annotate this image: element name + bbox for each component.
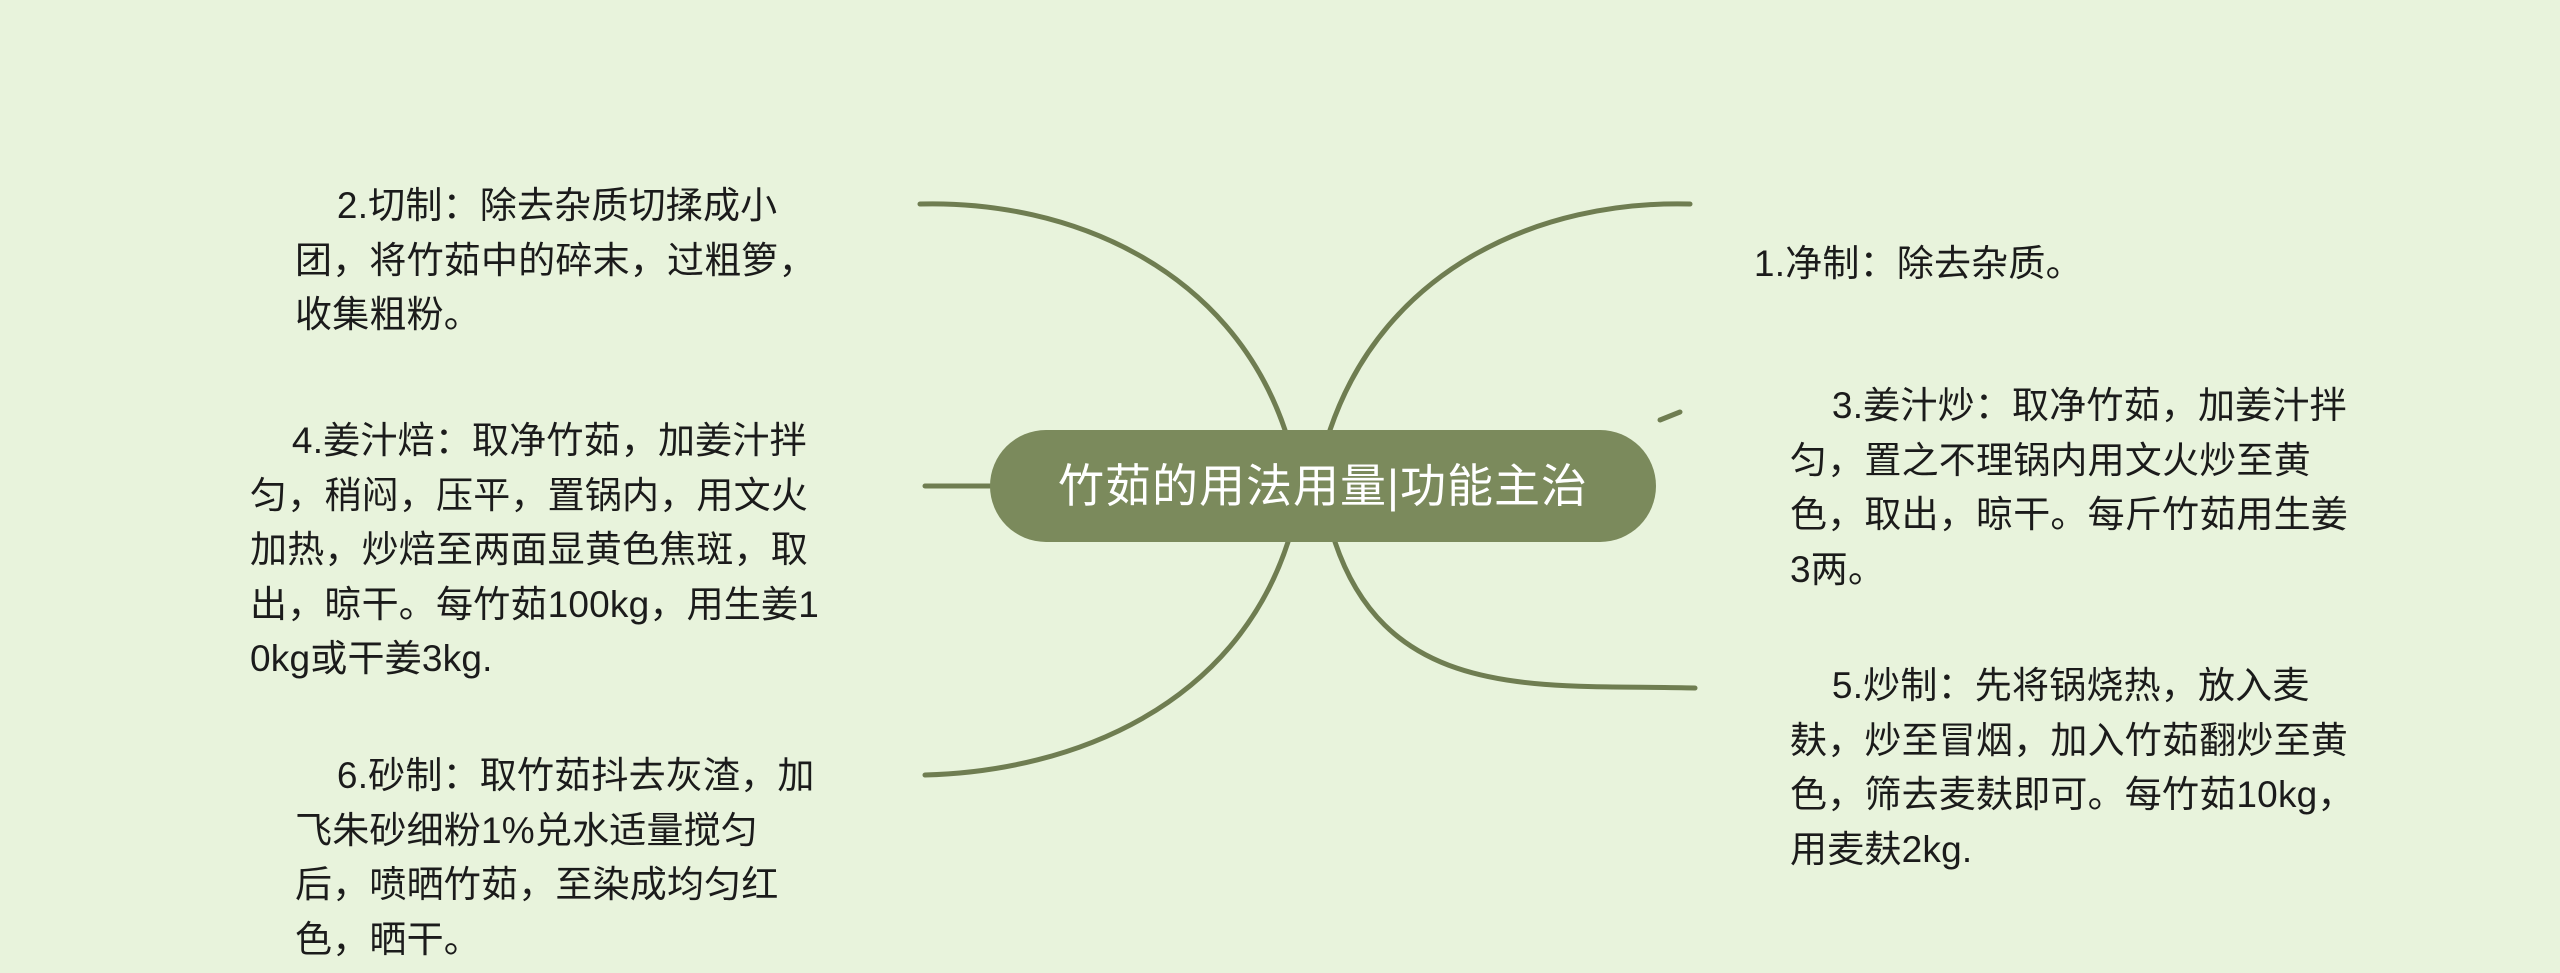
- branch-node-4[interactable]: 4.姜汁焙：取净竹茹，加姜汁拌匀，稍闷，压平，置锅内，用文火加热，炒焙至两面显黄…: [250, 360, 830, 741]
- connector-branch-2: [920, 204, 1285, 430]
- connector-branch-5: [1335, 542, 1695, 688]
- branch-node-2[interactable]: 2.切制：除去杂质切揉成小团，将竹茹中的碎末，过粗箩，收集粗粉。: [295, 125, 830, 397]
- branch-label-1: 1.净制：除去杂质。: [1754, 243, 2083, 284]
- branch-node-5[interactable]: 5.炒制：先将锅烧热，放入麦麸，炒至冒烟，加入竹茹翻炒至黄色，筛去麦麸即可。每竹…: [1790, 605, 2360, 931]
- branch-node-1[interactable]: 1.净制：除去杂质。: [1712, 183, 2312, 346]
- branch-label-5: 5.炒制：先将锅烧热，放入麦麸，炒至冒烟，加入竹茹翻炒至黄色，筛去麦麸即可。每竹…: [1790, 665, 2355, 869]
- mindmap-canvas: 竹茹的用法用量|功能主治 2.切制：除去杂质切揉成小团，将竹茹中的碎末，过粗箩，…: [0, 0, 2560, 973]
- branch-label-4: 4.姜汁焙：取净竹茹，加姜汁拌匀，稍闷，压平，置锅内，用文火加热，炒焙至两面显黄…: [250, 420, 819, 679]
- branch-node-3[interactable]: 3.姜汁炒：取净竹茹，加姜汁拌匀，置之不理锅内用文火炒至黄色，取出，晾干。每斤竹…: [1790, 325, 2360, 651]
- branch-label-2: 2.切制：除去杂质切揉成小团，将竹茹中的碎末，过粗箩，收集粗粉。: [295, 185, 816, 335]
- connector-branch-1: [1330, 204, 1690, 430]
- connector-branch-3: [1660, 412, 1680, 420]
- central-node[interactable]: 竹茹的用法用量|功能主治: [990, 430, 1656, 542]
- connector-branch-6: [925, 542, 1288, 775]
- branch-label-3: 3.姜汁炒：取净竹茹，加姜汁拌匀，置之不理锅内用文火炒至黄色，取出，晾干。每斤竹…: [1790, 385, 2348, 589]
- branch-node-6[interactable]: 6.砂制：取竹茹抖去灰渣，加飞朱砂细粉1%兑水适量搅匀后，喷晒竹茹，至染成均匀红…: [295, 695, 830, 973]
- central-node-label: 竹茹的用法用量|功能主治: [1058, 463, 1588, 509]
- branch-label-6: 6.砂制：取竹茹抖去灰渣，加飞朱砂细粉1%兑水适量搅匀后，喷晒竹茹，至染成均匀红…: [295, 755, 815, 959]
